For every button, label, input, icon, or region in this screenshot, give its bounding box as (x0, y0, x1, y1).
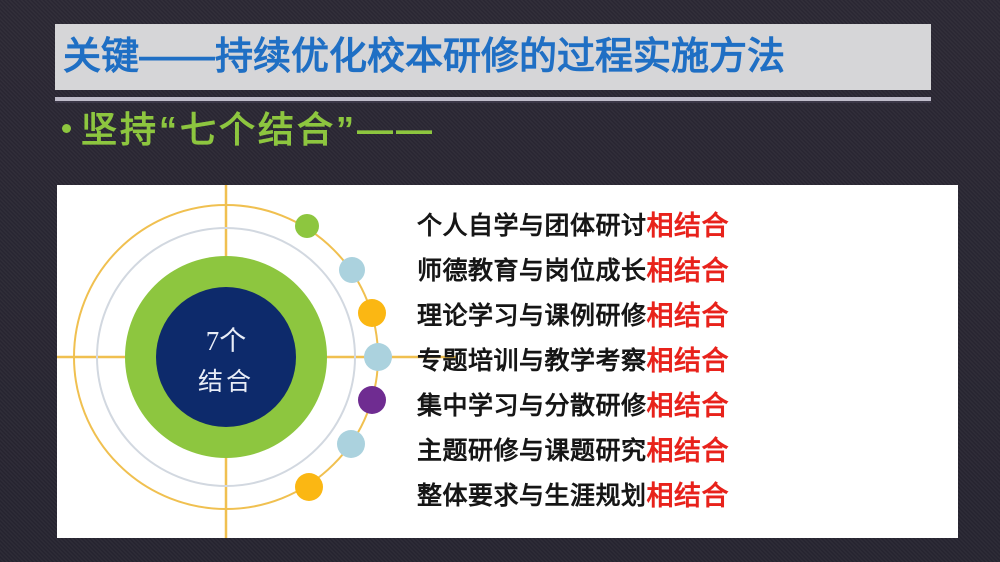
orbit-dot-3-orange (358, 299, 386, 327)
list-item-accent: 相结合 (647, 384, 730, 423)
list-item-main: 集中学习与分散研修 (417, 386, 647, 422)
slide-title-bar: 关键——持续优化校本研修的过程实施方法 (55, 24, 931, 90)
list-item-main: 主题研修与课题研究 (417, 431, 647, 467)
orbit-dot-5-purple (358, 386, 386, 414)
content-panel: 7个 结合 个人自学与团体研讨 相结合 师德教育与岗位成长 相结合 (57, 185, 958, 538)
orbit-dot-2-lightblue (339, 257, 365, 283)
list-item-accent: 相结合 (647, 204, 730, 243)
orbit-dot-1-green (295, 214, 319, 238)
list-item: 个人自学与团体研讨 相结合 (417, 201, 937, 246)
list-item: 专题培训与教学考察 相结合 (417, 336, 937, 381)
list-item-main: 个人自学与团体研讨 (417, 206, 647, 242)
list-item-accent: 相结合 (647, 249, 730, 288)
subtitle-text: 坚持“七个结合”—— (81, 112, 435, 148)
seven-combinations-diagram: 7个 结合 (57, 185, 457, 538)
list-item: 理论学习与课例研修 相结合 (417, 291, 937, 336)
list-item: 集中学习与分散研修 相结合 (417, 381, 937, 426)
orbit-dot-7-orange (295, 473, 323, 501)
title-divider-dark (55, 101, 931, 103)
core-label-line2: 结合 (198, 368, 254, 396)
subtitle-row: 坚持“七个结合”—— (62, 112, 435, 148)
core-label-line1: 7个 (206, 326, 247, 356)
list-item-main: 专题培训与教学考察 (417, 341, 647, 377)
list-item-main: 师德教育与岗位成长 (417, 251, 647, 287)
list-item-accent: 相结合 (647, 474, 730, 513)
page-title: 关键——持续优化校本研修的过程实施方法 (63, 38, 785, 76)
list-item-main: 整体要求与生涯规划 (417, 476, 647, 512)
list-item: 师德教育与岗位成长 相结合 (417, 246, 937, 291)
list-item: 主题研修与课题研究 相结合 (417, 426, 937, 471)
navy-core (156, 287, 296, 427)
list-item-accent: 相结合 (647, 339, 730, 378)
bullet-icon (62, 124, 71, 133)
diagram-svg: 7个 结合 (57, 185, 457, 538)
slide-canvas: 关键——持续优化校本研修的过程实施方法 坚持“七个结合”—— (0, 0, 1000, 562)
list-item-accent: 相结合 (647, 429, 730, 468)
combinations-list: 个人自学与团体研讨 相结合 师德教育与岗位成长 相结合 理论学习与课例研修 相结… (417, 201, 937, 516)
list-item-main: 理论学习与课例研修 (417, 296, 647, 332)
list-item: 整体要求与生涯规划 相结合 (417, 471, 937, 516)
orbit-dot-4-lightblue (364, 343, 392, 371)
list-item-accent: 相结合 (647, 294, 730, 333)
orbit-dot-6-lightblue (337, 430, 365, 458)
